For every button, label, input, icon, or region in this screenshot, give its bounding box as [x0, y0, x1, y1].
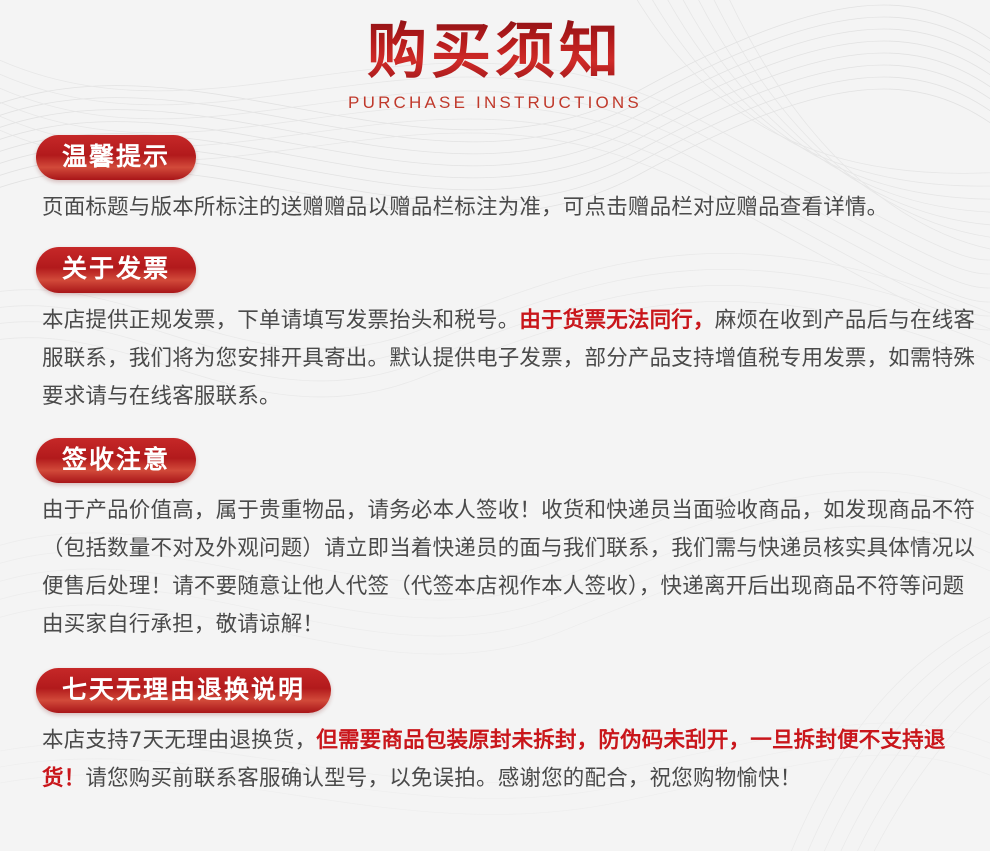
body-text: 本店支持7天无理由退换货， [42, 728, 316, 753]
section-badge-invoice: 关于发票 [36, 247, 196, 292]
purchase-instructions-page: 购买须知 PURCHASE INSTRUCTIONS 温馨提示 页面标题与版本所… [0, 0, 990, 851]
body-text: 请您购买前联系客服确认型号，以免误拍。感谢您的配合，祝您购物愉快！ [85, 766, 801, 791]
body-text: 由于产品价值高，属于贵重物品，请务必本人签收！收货和快递员当面验收商品，如发现商… [42, 498, 975, 637]
section-invoice: 关于发票 本店提供正规发票，下单请填写发票抬头和税号。由于货票无法同行，麻烦在收… [34, 247, 976, 415]
body-text: 本店提供正规发票，下单请填写发票抬头和税号。 [42, 308, 519, 333]
section-paragraph-signing: 由于产品价值高，属于贵重物品，请务必本人签收！收货和快递员当面验收商品，如发现商… [42, 492, 976, 644]
section-badge-signing: 签收注意 [36, 438, 196, 483]
page-subtitle: PURCHASE INSTRUCTIONS [0, 93, 990, 113]
section-badge-tips: 温馨提示 [36, 135, 196, 180]
section-paragraph-return-policy: 本店支持7天无理由退换货，但需要商品包装原封未拆封，防伪码未刮开，一旦拆封便不支… [42, 722, 976, 798]
section-badge-return-policy: 七天无理由退换说明 [36, 668, 331, 713]
body-text: 页面标题与版本所标注的送赠赠品以赠品栏标注为准，可点击赠品栏对应赠品查看详情。 [42, 195, 888, 220]
section-paragraph-invoice: 本店提供正规发票，下单请填写发票抬头和税号。由于货票无法同行，麻烦在收到产品后与… [42, 302, 976, 416]
section-paragraph-tips: 页面标题与版本所标注的送赠赠品以赠品栏标注为准，可点击赠品栏对应赠品查看详情。 [42, 189, 976, 227]
highlighted-text: 由于货票无法同行， [519, 308, 714, 333]
page-title: 购买须知 [0, 18, 990, 87]
page-header: 购买须知 PURCHASE INSTRUCTIONS [0, 0, 990, 113]
section-return-policy: 七天无理由退换说明 本店支持7天无理由退换货，但需要商品包装原封未拆封，防伪码未… [34, 668, 976, 798]
section-tips: 温馨提示 页面标题与版本所标注的送赠赠品以赠品栏标注为准，可点击赠品栏对应赠品查… [34, 135, 976, 227]
section-signing: 签收注意 由于产品价值高，属于贵重物品，请务必本人签收！收货和快递员当面验收商品… [34, 438, 976, 644]
instructions-content: 温馨提示 页面标题与版本所标注的送赠赠品以赠品栏标注为准，可点击赠品栏对应赠品查… [0, 135, 990, 798]
